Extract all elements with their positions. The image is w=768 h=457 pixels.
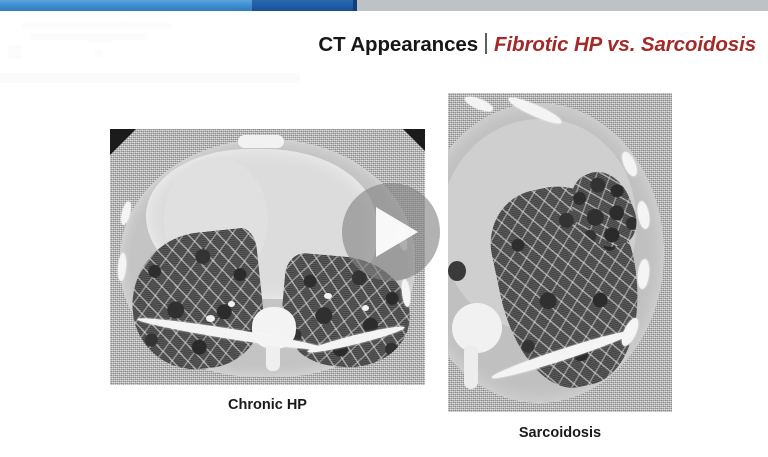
pulmonary-vessel (362, 305, 369, 311)
progress-scrubber-handle[interactable] (353, 0, 357, 11)
play-button[interactable] (342, 183, 440, 281)
spinous-process (464, 345, 478, 389)
ghost-artifact (22, 23, 172, 30)
scanner-annotation: ▫▫▫▫ ▫▫▫▫ ▫▫▫▫▫ ▫▫▫▫ (116, 369, 153, 381)
ghost-artifact (95, 51, 103, 57)
progress-buffered-segment[interactable] (252, 0, 357, 11)
descending-aorta (448, 261, 466, 281)
ghost-band (0, 73, 300, 83)
ghost-artifact (120, 21, 126, 27)
progress-played-segment[interactable] (0, 0, 252, 11)
slide-canvas: CT Appearances Fibrotic HP vs. Sarcoidos… (0, 11, 768, 457)
video-progress-bar[interactable] (0, 0, 768, 11)
ct-corner-shade (110, 129, 136, 155)
figure-caption-sarcoidosis: Sarcoidosis (448, 425, 672, 441)
sternum-bone (238, 135, 284, 148)
title-accent-text: Fibrotic HP vs. Sarcoidosis (494, 33, 756, 57)
ct-image-sarcoidosis (448, 93, 672, 412)
figure-sarcoidosis: Sarcoidosis (448, 93, 672, 412)
ghost-artifact (86, 35, 112, 42)
ghost-artifact (8, 45, 22, 59)
pulmonary-vessel (324, 293, 332, 299)
pulmonary-vessel (206, 315, 215, 322)
page-title: CT Appearances Fibrotic HP vs. Sarcoidos… (318, 30, 756, 57)
figure-caption-chronic-hp: Chronic HP (110, 397, 425, 413)
title-divider-rule (485, 33, 487, 54)
pulmonary-vessel (228, 301, 235, 307)
title-main-text: CT Appearances (318, 33, 478, 57)
ct-corner-shade (403, 129, 425, 151)
vertebral-body (452, 303, 502, 353)
play-triangle-icon (376, 207, 418, 257)
